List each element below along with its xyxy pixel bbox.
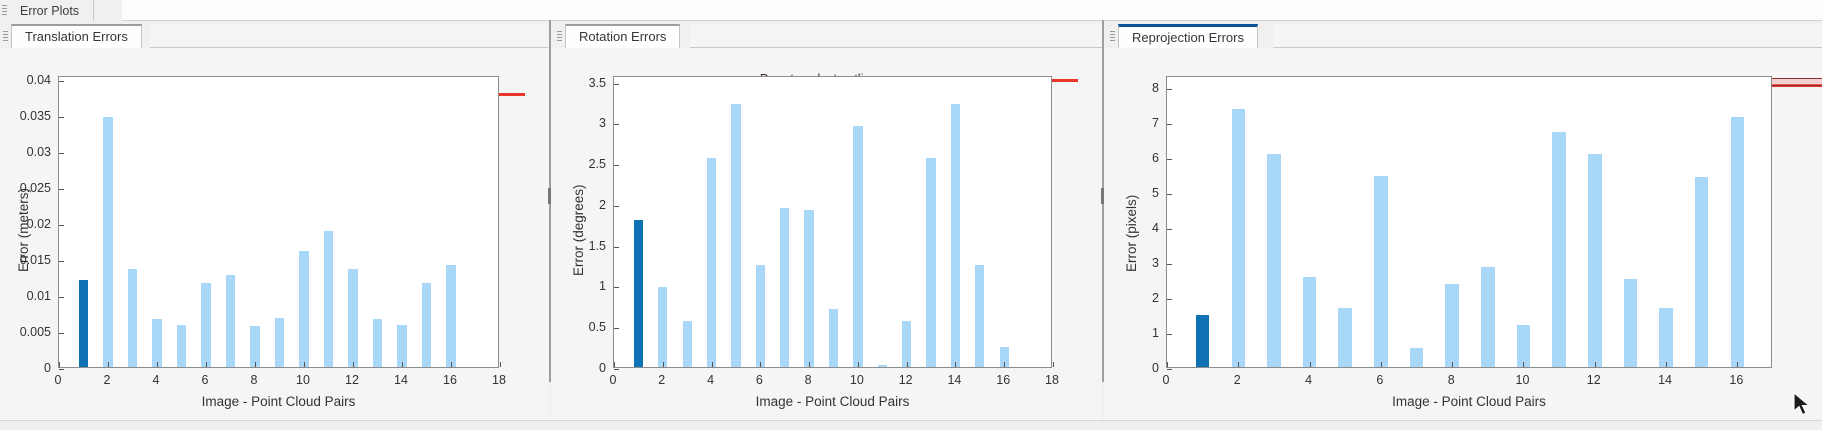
y-tick-label: 3.5: [589, 76, 606, 90]
y-tick-mark: [59, 117, 64, 118]
x-tick-mark: [907, 362, 908, 367]
x-tick-mark: [1238, 362, 1239, 367]
y-tick-mark: [1167, 194, 1172, 195]
document-tab-bar-empty: [122, 0, 1822, 21]
bar[interactable]: [446, 265, 455, 367]
x-tick-mark: [500, 362, 501, 367]
bar[interactable]: [853, 126, 862, 367]
x-tick-mark: [809, 362, 810, 367]
x-tick-label: 4: [1305, 373, 1312, 387]
bar[interactable]: [152, 319, 161, 367]
y-tick-label: 0: [1152, 361, 1159, 375]
x-tick-label: 10: [296, 373, 310, 387]
bar[interactable]: [1338, 308, 1352, 367]
x-tick-mark: [451, 362, 452, 367]
x-tick-mark: [1310, 362, 1311, 367]
bar[interactable]: [299, 251, 308, 367]
x-tick-mark: [1452, 362, 1453, 367]
x-tick-label: 6: [756, 373, 763, 387]
y-tick-label: 1: [1152, 326, 1159, 340]
x-tick-mark: [157, 362, 158, 367]
bar[interactable]: [707, 158, 716, 367]
x-tick-label: 16: [1729, 373, 1743, 387]
y-tick-mark: [59, 297, 64, 298]
x-tick-label: 14: [1658, 373, 1672, 387]
x-tick-mark: [353, 362, 354, 367]
bar-chart-3: [1166, 76, 1772, 368]
y-tick-mark: [614, 287, 619, 288]
bar[interactable]: [275, 318, 284, 367]
bar[interactable]: [1196, 315, 1210, 367]
y-tick-mark: [59, 81, 64, 82]
panel-rotation-errors: 00.511.522.533.5024681012141618Drag to s…: [551, 48, 1102, 430]
panel-1-tabstrip-filler: [150, 24, 548, 48]
y-tick-mark: [1167, 229, 1172, 230]
x-tick-label: 8: [251, 373, 258, 387]
bar[interactable]: [1445, 284, 1459, 367]
tab-rotation-errors-label: Rotation Errors: [579, 29, 666, 44]
y-tick-mark: [1167, 299, 1172, 300]
x-tick-mark: [1381, 362, 1382, 367]
x-axis-title: Image - Point Cloud Pairs: [1166, 394, 1772, 409]
document-tab-error-plots[interactable]: Error Plots: [8, 0, 94, 21]
x-tick-label: 2: [1234, 373, 1241, 387]
y-axis-title: Error (degrees): [571, 184, 586, 276]
x-tick-label: 0: [1163, 373, 1170, 387]
y-tick-mark: [614, 124, 619, 125]
tab-translation-errors-label: Translation Errors: [25, 29, 128, 44]
panel-translation-errors: 00.0050.010.0150.020.0250.030.0350.04024…: [0, 48, 549, 430]
y-tick-label: 3: [599, 116, 606, 130]
plot-area[interactable]: [1166, 76, 1772, 368]
y-tick-label: 2: [1152, 291, 1159, 305]
y-tick-mark: [1167, 334, 1172, 335]
y-tick-mark: [59, 189, 64, 190]
y-tick-label: 5: [1152, 186, 1159, 200]
bar[interactable]: [128, 269, 137, 367]
y-tick-label: 0: [44, 361, 51, 375]
bar[interactable]: [201, 283, 210, 367]
x-tick-mark: [59, 362, 60, 367]
y-tick-mark: [59, 333, 64, 334]
y-tick-label: 6: [1152, 151, 1159, 165]
panel-3-tabstrip-filler: [1273, 24, 1822, 48]
y-tick-label: 7: [1152, 116, 1159, 130]
plot-area[interactable]: [58, 76, 499, 368]
tab-rotation-errors[interactable]: Rotation Errors: [565, 24, 680, 48]
x-tick-label: 18: [1045, 373, 1059, 387]
bar[interactable]: [829, 309, 838, 367]
x-tick-label: 8: [805, 373, 812, 387]
plot-area[interactable]: [613, 76, 1052, 368]
x-tick-mark: [1666, 362, 1667, 367]
y-tick-mark: [614, 206, 619, 207]
x-tick-mark: [1595, 362, 1596, 367]
bar[interactable]: [1374, 176, 1388, 367]
x-tick-mark: [614, 362, 615, 367]
bar[interactable]: [324, 231, 333, 367]
bar[interactable]: [79, 280, 88, 367]
y-tick-label: 0.5: [589, 320, 606, 334]
y-tick-label: 1.5: [589, 239, 606, 253]
bar[interactable]: [1410, 348, 1424, 367]
bar[interactable]: [397, 325, 406, 367]
x-tick-label: 12: [345, 373, 359, 387]
bar[interactable]: [1624, 279, 1638, 367]
y-tick-mark: [1167, 264, 1172, 265]
x-axis-title: Image - Point Cloud Pairs: [613, 394, 1052, 409]
bar[interactable]: [926, 158, 935, 367]
y-tick-mark: [614, 247, 619, 248]
x-tick-label: 10: [850, 373, 864, 387]
bar[interactable]: [250, 326, 259, 367]
y-tick-label: 8: [1152, 81, 1159, 95]
document-tab-bar: Error Plots: [0, 0, 1822, 21]
bar[interactable]: [951, 104, 960, 367]
tab-reprojection-errors-label: Reprojection Errors: [1132, 30, 1244, 45]
bar[interactable]: [348, 269, 357, 367]
x-tick-label: 12: [1587, 373, 1601, 387]
x-tick-mark: [858, 362, 859, 367]
y-tick-mark: [614, 165, 619, 166]
bar[interactable]: [683, 321, 692, 367]
x-tick-mark: [1053, 362, 1054, 367]
bar[interactable]: [902, 321, 911, 367]
bar[interactable]: [1731, 117, 1745, 367]
bar[interactable]: [1695, 177, 1709, 367]
bottom-strip: [0, 420, 1822, 430]
x-tick-label: 12: [899, 373, 913, 387]
y-tick-label: 0.035: [20, 109, 51, 123]
x-tick-mark: [712, 362, 713, 367]
x-tick-label: 0: [610, 373, 617, 387]
x-tick-mark: [402, 362, 403, 367]
x-tick-label: 4: [153, 373, 160, 387]
panel-2-drag-grip-icon[interactable]: [557, 31, 562, 42]
bar[interactable]: [658, 287, 667, 367]
x-tick-label: 6: [202, 373, 209, 387]
y-tick-label: 2: [599, 198, 606, 212]
bar[interactable]: [1303, 277, 1317, 367]
y-tick-mark: [59, 369, 64, 370]
panel-tab-row: Translation Errors Rotation Errors Repro…: [0, 21, 1822, 48]
x-tick-label: 14: [947, 373, 961, 387]
x-tick-label: 6: [1376, 373, 1383, 387]
y-tick-mark: [59, 261, 64, 262]
bar[interactable]: [1481, 267, 1495, 367]
x-tick-label: 4: [707, 373, 714, 387]
y-tick-label: 0.04: [27, 73, 51, 87]
x-tick-label: 2: [658, 373, 665, 387]
y-tick-label: 3: [1152, 256, 1159, 270]
bar[interactable]: [373, 319, 382, 367]
bar[interactable]: [756, 265, 765, 367]
bar-chart-2: [613, 76, 1052, 368]
y-axis-title: Error (pixels): [1124, 195, 1139, 272]
bar[interactable]: [177, 325, 186, 367]
x-tick-mark: [955, 362, 956, 367]
y-tick-mark: [1167, 124, 1172, 125]
drag-grip-icon[interactable]: [2, 5, 7, 16]
x-tick-label: 14: [394, 373, 408, 387]
x-tick-mark: [663, 362, 664, 367]
y-tick-mark: [1167, 159, 1172, 160]
y-tick-mark: [59, 153, 64, 154]
x-tick-mark: [1004, 362, 1005, 367]
bar[interactable]: [1659, 308, 1673, 367]
x-tick-mark: [1167, 362, 1168, 367]
x-tick-label: 10: [1516, 373, 1530, 387]
bar-chart-1: [58, 76, 499, 368]
bar[interactable]: [1267, 154, 1281, 367]
y-tick-label: 0.01: [27, 289, 51, 303]
y-tick-mark: [1167, 89, 1172, 90]
x-tick-mark: [760, 362, 761, 367]
x-tick-label: 18: [492, 373, 506, 387]
y-tick-label: 2.5: [589, 157, 606, 171]
x-tick-mark: [1737, 362, 1738, 367]
mouse-cursor-icon: [1792, 392, 1814, 418]
panel-1-drag-grip-icon[interactable]: [3, 31, 8, 42]
y-tick-mark: [1167, 369, 1172, 370]
x-tick-mark: [206, 362, 207, 367]
panel-reprojection-errors: 0123456780246810121416Drag to select out…: [1104, 48, 1822, 430]
bar[interactable]: [878, 365, 887, 367]
x-axis-title: Image - Point Cloud Pairs: [58, 394, 499, 409]
y-tick-label: 0: [599, 361, 606, 375]
y-tick-mark: [614, 328, 619, 329]
bar[interactable]: [975, 265, 984, 367]
y-tick-mark: [59, 225, 64, 226]
x-tick-label: 0: [55, 373, 62, 387]
y-tick-label: 4: [1152, 221, 1159, 235]
document-tab-label: Error Plots: [20, 4, 79, 18]
y-tick-mark: [614, 84, 619, 85]
x-tick-label: 2: [104, 373, 111, 387]
bar[interactable]: [804, 210, 813, 367]
bar[interactable]: [226, 275, 235, 367]
bar[interactable]: [103, 117, 112, 367]
x-tick-label: 8: [1448, 373, 1455, 387]
y-axis-title: Error (meters): [16, 188, 31, 272]
bar[interactable]: [1552, 132, 1566, 367]
x-tick-mark: [1523, 362, 1524, 367]
x-tick-label: 16: [443, 373, 457, 387]
panel-2-tabstrip-filler: [690, 24, 1102, 48]
x-tick-mark: [304, 362, 305, 367]
bar[interactable]: [634, 220, 643, 367]
bar[interactable]: [1588, 154, 1602, 367]
y-tick-label: 0.03: [27, 145, 51, 159]
x-tick-label: 16: [996, 373, 1010, 387]
y-tick-label: 1: [599, 279, 606, 293]
bar[interactable]: [422, 283, 431, 367]
tab-translation-errors[interactable]: Translation Errors: [11, 24, 142, 48]
bar[interactable]: [1517, 325, 1531, 367]
y-tick-label: 0.005: [20, 325, 51, 339]
tab-reprojection-errors[interactable]: Reprojection Errors: [1118, 24, 1258, 48]
x-tick-mark: [108, 362, 109, 367]
bar[interactable]: [780, 208, 789, 367]
bar[interactable]: [1232, 109, 1246, 367]
x-tick-mark: [255, 362, 256, 367]
bar[interactable]: [731, 104, 740, 367]
y-tick-mark: [614, 369, 619, 370]
panel-3-drag-grip-icon[interactable]: [1110, 31, 1115, 42]
